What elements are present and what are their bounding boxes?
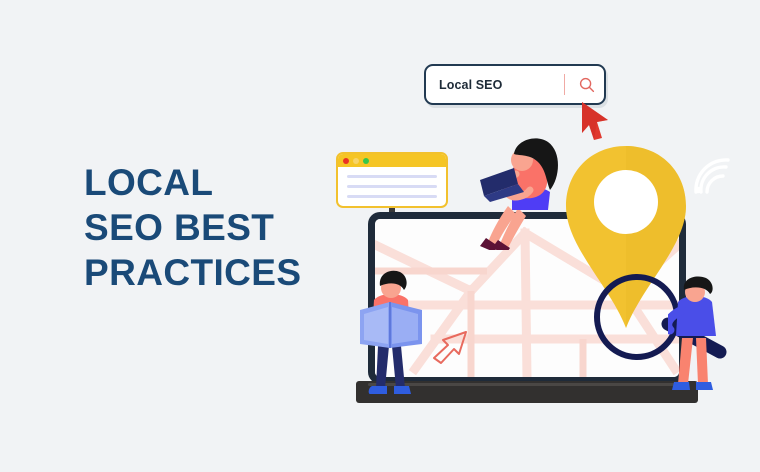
content-line	[347, 195, 437, 198]
person-man-with-book	[356, 268, 428, 404]
person-woman-with-laptop	[474, 134, 580, 250]
search-divider	[564, 74, 565, 95]
man-mag-shirt	[676, 296, 716, 336]
page-title-line-2: SEO BEST	[84, 205, 344, 250]
map-arrow-up-right-icon	[428, 322, 474, 368]
browser-window	[336, 152, 448, 208]
man-book-shoe	[369, 386, 387, 394]
man-mag-leg	[696, 338, 708, 384]
close-dot-icon	[343, 158, 349, 164]
search-button[interactable]	[574, 72, 600, 98]
content-line	[347, 175, 437, 178]
man-book-leg	[376, 346, 389, 388]
search-input[interactable]: Local SEO	[426, 78, 564, 92]
cursor-arrow-icon	[578, 100, 612, 142]
page-title-line-1: LOCAL	[84, 160, 344, 205]
browser-titlebar	[338, 154, 446, 167]
maximize-dot-icon	[363, 158, 369, 164]
page-title-line-3: PRACTICES	[84, 250, 344, 295]
page-title: LOCAL SEO BEST PRACTICES	[84, 160, 344, 295]
illustration-canvas: LOCAL SEO BEST PRACTICES Local SEO	[0, 0, 760, 472]
content-line	[347, 185, 437, 188]
search-icon	[578, 76, 596, 94]
man-mag-shoe	[672, 382, 690, 390]
wifi-icon	[688, 152, 734, 196]
man-book-shoe	[394, 386, 411, 394]
man-mag-shoe	[696, 382, 713, 390]
man-book-leg	[392, 346, 405, 388]
browser-content	[338, 167, 446, 198]
person-man-with-magnifier	[668, 276, 726, 404]
man-mag-leg	[678, 338, 693, 384]
minimize-dot-icon	[353, 158, 359, 164]
search-bar[interactable]: Local SEO	[424, 64, 606, 105]
